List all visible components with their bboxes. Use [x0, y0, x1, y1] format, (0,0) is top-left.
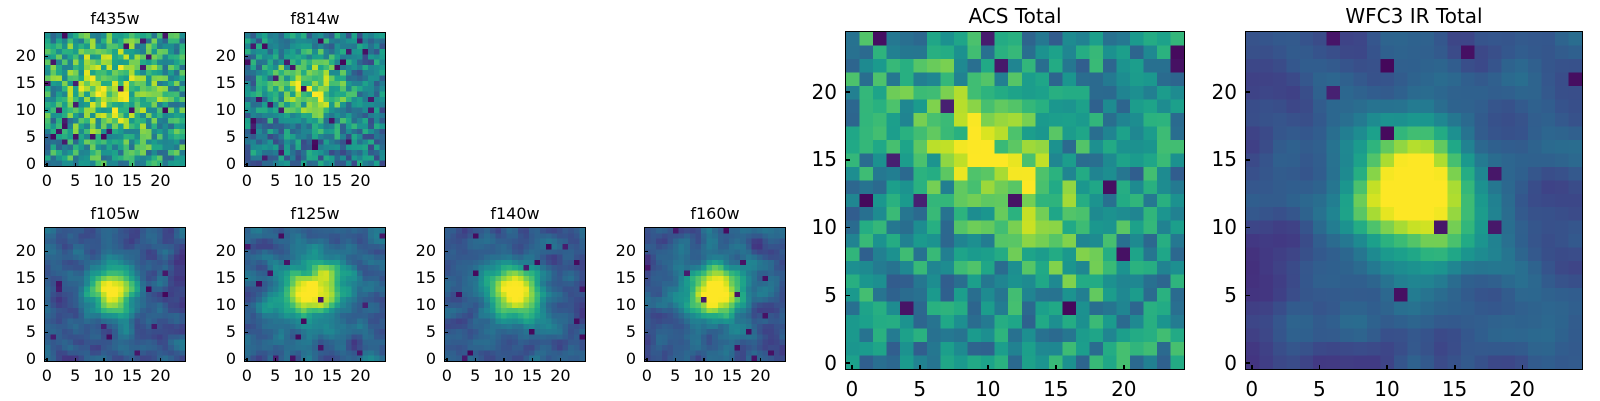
y-tick-f160w-20	[644, 251, 648, 253]
x-tick-f140w-15	[532, 358, 534, 362]
y-tick-label-wfc3_ir_total-0: 0	[1147, 353, 1237, 373]
y-tick-f125w-5	[244, 332, 248, 334]
panel-title-acs_total: ACS Total	[845, 6, 1185, 26]
y-tick-f814w-5	[244, 137, 248, 139]
x-tick-f125w-15	[332, 358, 334, 362]
y-tick-label-f140w-5: 5	[346, 324, 436, 340]
y-tick-f435w-10	[44, 110, 48, 112]
x-tick-f140w-5	[475, 358, 477, 362]
panel-f814w: f814w0510152005101520	[244, 32, 386, 167]
y-tick-label-f435w-20: 20	[0, 48, 36, 64]
y-tick-f105w-20	[44, 251, 48, 253]
y-tick-label-f125w-0: 0	[146, 351, 236, 367]
y-tick-f140w-10	[444, 305, 448, 307]
y-tick-f160w-15	[644, 278, 648, 280]
y-tick-label-f160w-5: 5	[546, 324, 636, 340]
y-tick-f814w-10	[244, 110, 248, 112]
y-tick-label-wfc3_ir_total-5: 5	[1147, 285, 1237, 305]
y-tick-acs_total-0	[845, 362, 850, 364]
x-tick-f814w-20	[360, 163, 362, 167]
y-tick-label-f160w-0: 0	[546, 351, 636, 367]
y-tick-label-f140w-20: 20	[346, 243, 436, 259]
y-tick-f125w-0	[244, 359, 248, 361]
x-tick-label-f140w-20: 20	[520, 368, 600, 384]
y-tick-wfc3_ir_total-10	[1245, 227, 1250, 229]
y-tick-f435w-15	[44, 83, 48, 85]
y-tick-label-f140w-15: 15	[346, 270, 436, 286]
panel-title-f125w: f125w	[244, 206, 386, 222]
figure-canvas: f435w0510152005101520f814w05101520051015…	[0, 0, 1600, 400]
y-tick-label-f105w-5: 5	[0, 324, 36, 340]
y-tick-f125w-10	[244, 305, 248, 307]
y-tick-label-acs_total-10: 10	[747, 217, 837, 237]
x-tick-acs_total-10	[987, 365, 989, 370]
y-tick-f125w-15	[244, 278, 248, 280]
y-tick-f105w-15	[44, 278, 48, 280]
x-tick-f160w-10	[703, 358, 705, 362]
y-tick-f435w-0	[44, 164, 48, 166]
x-tick-acs_total-5	[919, 365, 921, 370]
y-tick-f814w-20	[244, 56, 248, 58]
y-tick-label-acs_total-0: 0	[747, 353, 837, 373]
y-tick-f160w-0	[644, 359, 648, 361]
y-tick-f435w-5	[44, 137, 48, 139]
x-tick-wfc3_ir_total-10	[1386, 365, 1388, 370]
y-tick-f140w-5	[444, 332, 448, 334]
y-tick-acs_total-15	[845, 159, 850, 161]
x-tick-f160w-15	[732, 358, 734, 362]
y-tick-f160w-10	[644, 305, 648, 307]
x-tick-f105w-15	[132, 358, 134, 362]
y-tick-label-f435w-15: 15	[0, 75, 36, 91]
y-tick-acs_total-20	[845, 91, 850, 93]
x-tick-f125w-5	[275, 358, 277, 362]
heatmap-image-acs_total	[846, 32, 1184, 369]
panel-title-f105w: f105w	[44, 206, 186, 222]
axes-acs_total	[845, 31, 1185, 370]
x-tick-f105w-5	[75, 358, 77, 362]
y-tick-f814w-15	[244, 83, 248, 85]
y-tick-f105w-5	[44, 332, 48, 334]
y-tick-f814w-0	[244, 164, 248, 166]
axes-wfc3_ir_total	[1245, 31, 1583, 370]
y-tick-label-f435w-5: 5	[0, 129, 36, 145]
heatmap-image-wfc3_ir_total	[1246, 32, 1582, 369]
x-tick-f435w-10	[103, 163, 105, 167]
x-tick-f435w-5	[75, 163, 77, 167]
x-tick-wfc3_ir_total-0	[1251, 365, 1253, 370]
panel-wfc3_ir_total: WFC3 IR Total0510152005101520	[1245, 31, 1583, 370]
y-tick-label-acs_total-15: 15	[747, 149, 837, 169]
y-tick-label-wfc3_ir_total-15: 15	[1147, 149, 1237, 169]
x-tick-label-f814w-20: 20	[320, 173, 400, 189]
panel-acs_total: ACS Total0510152005101520	[845, 31, 1185, 370]
panel-title-wfc3_ir_total: WFC3 IR Total	[1245, 6, 1583, 26]
panel-title-f140w: f140w	[444, 206, 586, 222]
y-tick-label-f105w-20: 20	[0, 243, 36, 259]
x-tick-label-f125w-20: 20	[320, 368, 400, 384]
y-tick-wfc3_ir_total-20	[1245, 91, 1250, 93]
x-tick-f140w-10	[503, 358, 505, 362]
x-tick-f125w-10	[303, 358, 305, 362]
x-tick-f814w-15	[332, 163, 334, 167]
y-tick-label-f125w-20: 20	[146, 243, 236, 259]
y-tick-f160w-5	[644, 332, 648, 334]
x-tick-acs_total-0	[851, 365, 853, 370]
y-tick-label-wfc3_ir_total-20: 20	[1147, 82, 1237, 102]
y-tick-label-f140w-0: 0	[346, 351, 436, 367]
y-tick-label-acs_total-20: 20	[747, 82, 837, 102]
x-tick-wfc3_ir_total-15	[1454, 365, 1456, 370]
y-tick-label-f160w-20: 20	[546, 243, 636, 259]
y-tick-label-f140w-10: 10	[346, 297, 436, 313]
x-tick-f814w-5	[275, 163, 277, 167]
y-tick-wfc3_ir_total-0	[1245, 362, 1250, 364]
x-tick-label-f105w-20: 20	[120, 368, 200, 384]
y-tick-f140w-15	[444, 278, 448, 280]
y-tick-label-acs_total-5: 5	[747, 285, 837, 305]
x-tick-f105w-10	[103, 358, 105, 362]
panel-title-f814w: f814w	[244, 11, 386, 27]
x-tick-acs_total-20	[1123, 365, 1125, 370]
y-tick-label-f105w-15: 15	[0, 270, 36, 286]
y-tick-f105w-0	[44, 359, 48, 361]
x-tick-label-wfc3_ir_total-20: 20	[1482, 379, 1562, 399]
x-tick-acs_total-15	[1055, 365, 1057, 370]
x-tick-f435w-15	[132, 163, 134, 167]
y-tick-label-wfc3_ir_total-10: 10	[1147, 217, 1237, 237]
y-tick-label-f125w-5: 5	[146, 324, 236, 340]
y-tick-f140w-0	[444, 359, 448, 361]
x-tick-label-f435w-20: 20	[120, 173, 200, 189]
y-tick-label-f160w-10: 10	[546, 297, 636, 313]
y-tick-label-f814w-15: 15	[146, 75, 236, 91]
y-tick-f140w-20	[444, 251, 448, 253]
x-tick-f814w-10	[303, 163, 305, 167]
y-tick-label-f105w-10: 10	[0, 297, 36, 313]
y-tick-wfc3_ir_total-15	[1245, 159, 1250, 161]
x-tick-wfc3_ir_total-20	[1522, 365, 1524, 370]
axes-f814w	[244, 32, 386, 167]
y-tick-label-f814w-0: 0	[146, 156, 236, 172]
y-tick-label-f814w-10: 10	[146, 102, 236, 118]
y-tick-f105w-10	[44, 305, 48, 307]
y-tick-label-f814w-5: 5	[146, 129, 236, 145]
y-tick-f435w-20	[44, 56, 48, 58]
heatmap-image-f814w	[245, 33, 385, 166]
x-tick-label-acs_total-20: 20	[1084, 379, 1164, 399]
y-tick-label-f435w-0: 0	[0, 156, 36, 172]
y-tick-label-f125w-10: 10	[146, 297, 236, 313]
x-tick-wfc3_ir_total-5	[1319, 365, 1321, 370]
y-tick-acs_total-5	[845, 295, 850, 297]
x-tick-f160w-5	[675, 358, 677, 362]
y-tick-f125w-20	[244, 251, 248, 253]
y-tick-label-f160w-15: 15	[546, 270, 636, 286]
y-tick-wfc3_ir_total-5	[1245, 295, 1250, 297]
y-tick-label-f125w-15: 15	[146, 270, 236, 286]
y-tick-label-f814w-20: 20	[146, 48, 236, 64]
panel-title-f435w: f435w	[44, 11, 186, 27]
y-tick-label-f435w-10: 10	[0, 102, 36, 118]
y-tick-label-f105w-0: 0	[0, 351, 36, 367]
y-tick-acs_total-10	[845, 227, 850, 229]
